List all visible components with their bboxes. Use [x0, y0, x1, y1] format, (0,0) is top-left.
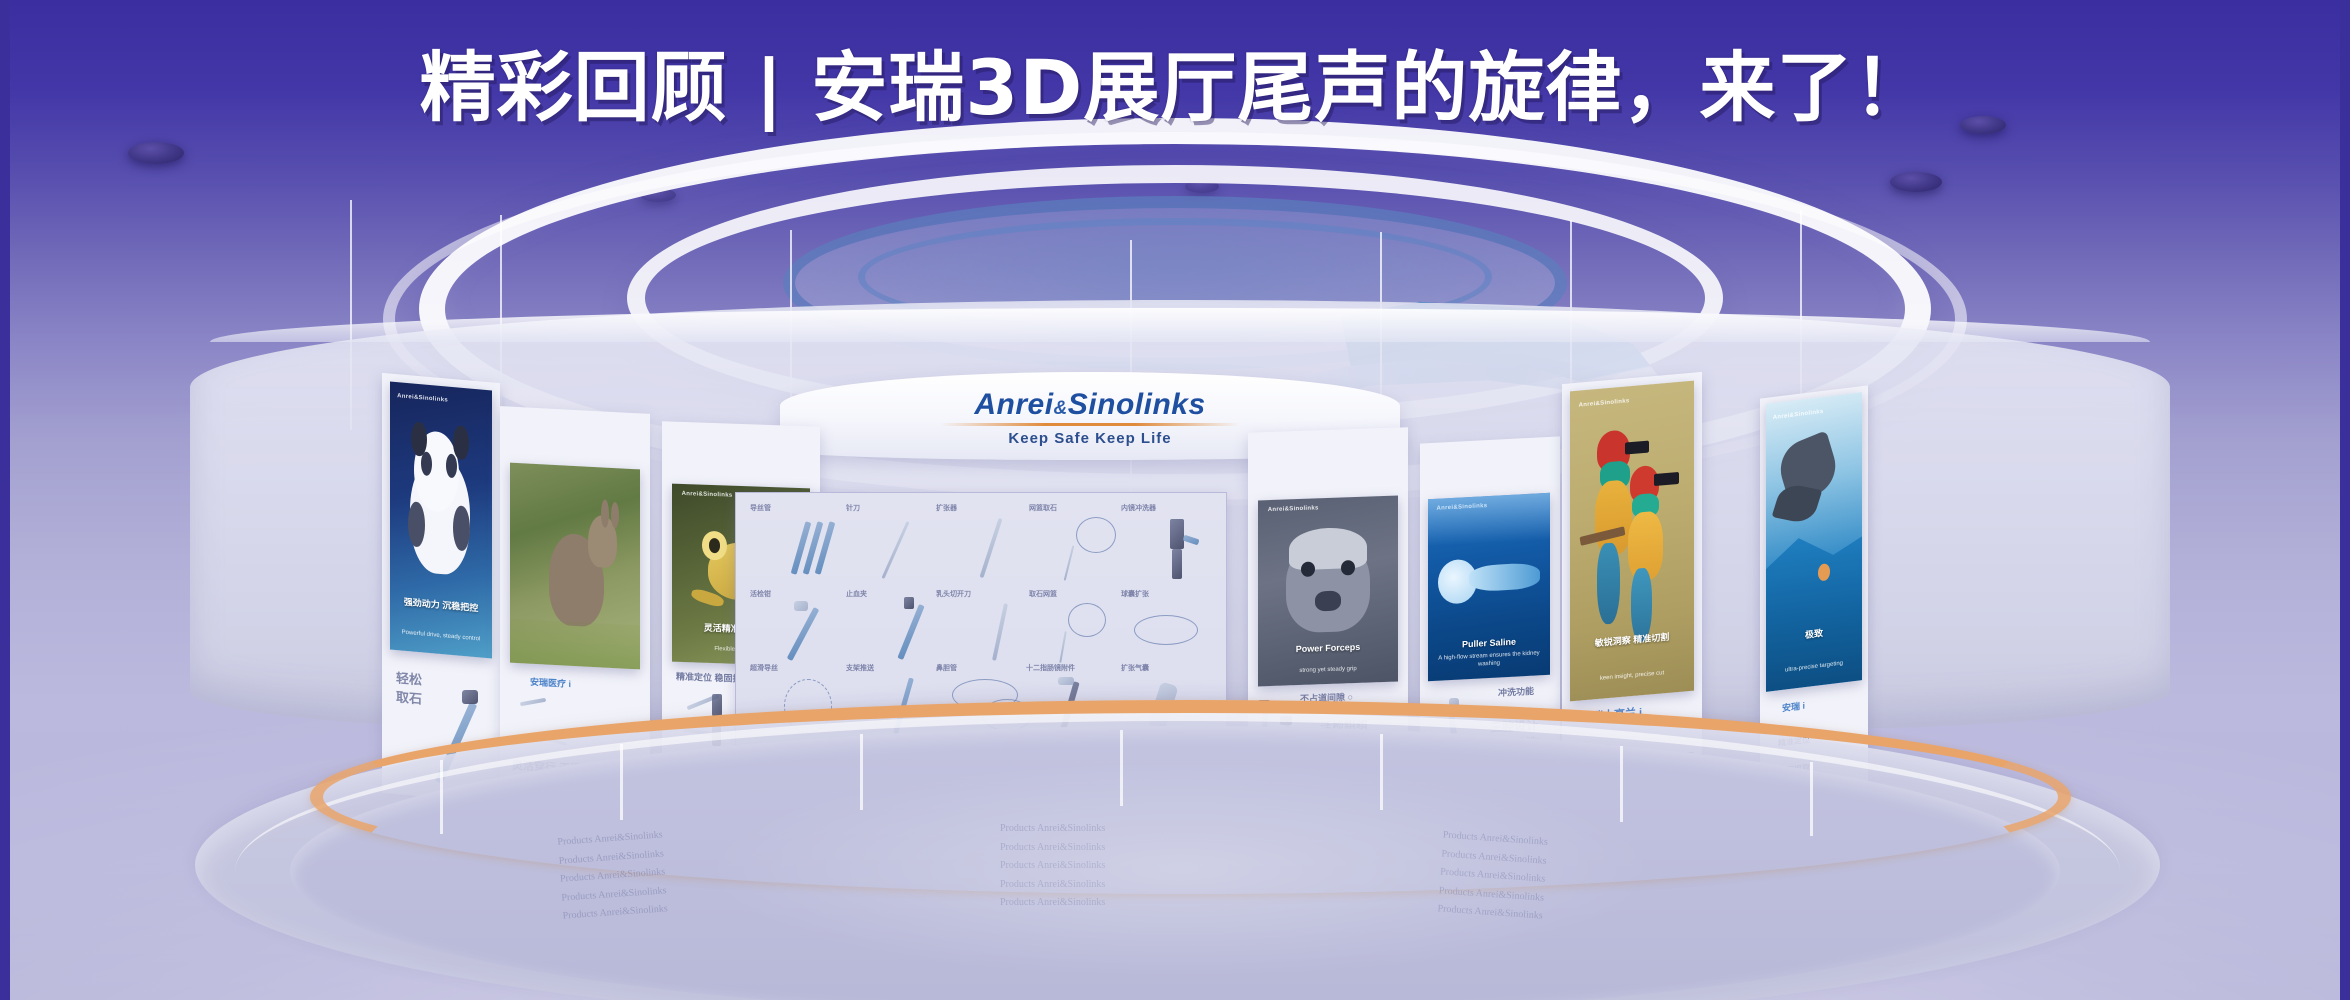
instrument-head-panda: [462, 690, 478, 704]
product-cell-label-0-4: 内镜冲洗器: [1121, 503, 1156, 513]
caption-logo-kangaroo: 安瑞医疗 i: [530, 675, 571, 690]
product-cell-label-0-1: 针刀: [846, 503, 860, 513]
poster-bee-eater-title: 敏锐洞察 精准切割: [1577, 630, 1686, 651]
ceiling-light-1: [128, 142, 184, 164]
poster-eagle-logo: Anrei&Sinolinks: [1773, 408, 1824, 420]
product-cell-label-1-3: 取石网篮: [1029, 589, 1057, 599]
poster-honey-badger[interactable]: Anrei&Sinolinks Power Forceps strong yet…: [1258, 496, 1398, 687]
exhibition-hall-banner: Anrei&Sinolinks Keep Safe Keep Life Anre…: [0, 0, 2350, 1000]
instrument-r2c1: [787, 607, 820, 661]
floor-text-column-1: Products Anrei&Sinolinks Products Anrei&…: [557, 826, 668, 926]
instrument-r1c5-tail: [1172, 549, 1182, 579]
poster-eagle[interactable]: Anrei&Sinolinks 极致 ultra-precise targeti…: [1766, 392, 1862, 692]
brand-ampersand: &: [1054, 398, 1068, 419]
poster-panda-subtitle: Powerful drive, steady control: [398, 629, 484, 644]
railing-post-2: [620, 744, 623, 820]
instrument-r2c2: [897, 604, 924, 660]
poster-bee-eater[interactable]: Anrei&Sinolinks 敏锐洞察 精准切割 keen insight, …: [1570, 381, 1694, 702]
instrument-r2c4-shaft: [1059, 631, 1067, 663]
instrument-frog-2: [712, 694, 722, 716]
product-cell-label-2-1: 支架推送: [846, 663, 874, 673]
product-cell-label-0-2: 扩张器: [936, 503, 957, 513]
railing-post-1: [440, 760, 443, 834]
loopwire-r2c5: [1134, 615, 1198, 645]
product-cell-label-2-0: 超滑导丝: [750, 663, 778, 673]
brand-logo-text: Anrei&Sinolinks: [780, 388, 1400, 422]
brand-name-part1: Anrei: [974, 388, 1053, 421]
page-title: 精彩回顾 | 安瑞3D展厅尾声的旋律，来了！: [0, 26, 2350, 136]
railing-post-5: [1380, 734, 1383, 810]
instrument-r1c2: [882, 521, 910, 579]
product-cell-label-0-3: 网篮取石: [1029, 503, 1057, 513]
caption-panda: 轻松 取石: [396, 669, 456, 712]
railing-post-7: [1810, 762, 1813, 836]
poster-badger-title: Power Forceps: [1266, 641, 1389, 657]
poster-panda[interactable]: Anrei&Sinolinks 强劲动力 沉稳把控 Powerful drive…: [390, 382, 492, 659]
caption-water-en: 冲洗功能: [1498, 685, 1534, 700]
product-cell-label-2-2: 鼻胆管: [936, 663, 957, 673]
brand-name-part2: Sinolinks: [1068, 388, 1206, 421]
instrument-r2c1-head: [794, 601, 808, 611]
product-cell-label-1-4: 球囊扩张: [1121, 589, 1149, 599]
brand-underline-rule: [940, 423, 1240, 426]
poster-bee-eater-logo: Anrei&Sinolinks: [1579, 399, 1630, 409]
poster-panda-logo: Anrei&Sinolinks: [397, 393, 448, 403]
instrument-r2c2-head: [904, 597, 914, 609]
floor-text-column-2: Products Anrei&Sinolinks Products Anrei&…: [1000, 820, 1105, 913]
ceiling-light-2: [1890, 172, 1942, 192]
product-cell-label-2-3: 十二指肠镜附件: [1026, 663, 1075, 673]
poster-water-title: Puller Saline: [1435, 635, 1542, 652]
poster-frog-logo: Anrei&Sinolinks: [682, 491, 733, 499]
product-cell-label-2-4: 扩张气囊: [1121, 663, 1149, 673]
instrument-r3c4-head: [1058, 677, 1074, 685]
product-cell-label-1-2: 乳头切开刀: [936, 589, 971, 599]
poster-panda-title: 强劲动力 沉稳把控: [396, 596, 486, 615]
loopwire-r2c4: [1068, 603, 1106, 637]
poster-bee-eater-subtitle: keen insight, precise cut: [1580, 668, 1684, 685]
floor-text-column-3: Products Anrei&Sinolinks Products Anrei&…: [1437, 826, 1548, 926]
instrument-r1c5-tube: [1182, 535, 1199, 546]
poster-water-subtitle: A high-flow stream ensures the kidney wa…: [1438, 651, 1541, 672]
railing-post-4: [1120, 730, 1123, 806]
instrument-r2c3: [992, 603, 1008, 661]
poster-badger-logo: Anrei&Sinolinks: [1268, 506, 1319, 514]
product-cell-label-1-1: 止血夹: [846, 589, 867, 599]
instrument-r1c4-shaft: [1064, 545, 1075, 580]
railing-post-6: [1620, 746, 1623, 822]
poster-water[interactable]: Anrei&Sinolinks Puller Saline A high-flo…: [1428, 493, 1550, 681]
poster-badger-subtitle: strong yet steady grip: [1269, 665, 1387, 677]
product-cell-label-1-0: 活检钳: [750, 589, 771, 599]
instrument-r1c3: [980, 518, 1003, 578]
product-cell-label-0-0: 导丝管: [750, 503, 771, 513]
instrument-r1c5-connector: [1170, 519, 1184, 549]
railing-post-3: [860, 734, 863, 810]
poster-kangaroo[interactable]: [510, 463, 640, 670]
loopwire-r1c4: [1076, 517, 1116, 553]
